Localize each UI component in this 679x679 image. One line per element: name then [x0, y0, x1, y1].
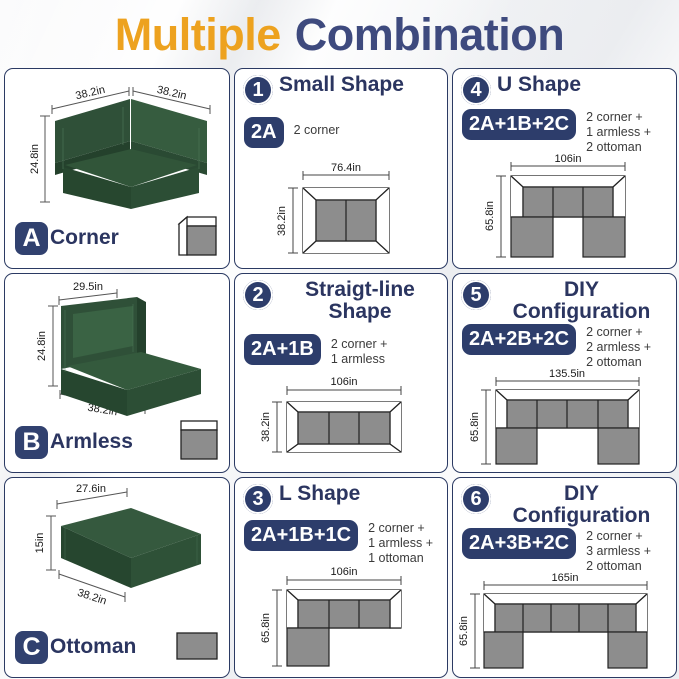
config-4-shape-name: U Shape	[497, 74, 581, 96]
config-5-combo-pill: 2A+2B+2C	[462, 324, 576, 355]
svg-text:24.8in: 24.8in	[29, 144, 41, 174]
panel-product-corner[interactable]: 38.2in 38.2in 24.8in	[4, 68, 230, 269]
config-3-diagram: 106in 65.8in	[235, 564, 447, 676]
config-6-header: 6 DIY Configuration	[461, 483, 670, 527]
config-5-depth-label: 65.8in	[469, 412, 481, 442]
config-3-combo-pill: 2A+1B+1C	[244, 520, 358, 551]
config-5-width-label: 135.5in	[549, 368, 585, 380]
config-1-diagram: 76.4in 38.2in	[235, 161, 447, 266]
config-6-diagram: 165in 65.8in	[453, 570, 676, 676]
config-6-depth-label: 65.8in	[458, 616, 470, 646]
circle-badge-3: 3	[243, 484, 273, 514]
corner-module-thumbnail	[175, 214, 219, 258]
svg-text:29.5in: 29.5in	[73, 281, 103, 293]
product-name-armless: Armless	[50, 430, 133, 454]
config-6-parts: 2 corner + 3 armless + 2 ottoman	[586, 529, 651, 573]
panel-config-3[interactable]: 3 L Shape 2A+1B+1C 2 corner + 1 armless …	[234, 477, 448, 678]
ottoman-module-thumbnail	[175, 631, 219, 661]
panel-config-1[interactable]: 1 Small Shape 2A 2 corner 76.4in 38.2in	[234, 68, 448, 269]
product-name-corner: Corner	[50, 226, 119, 250]
config-2-shape-name: Straigt-line Shape	[279, 279, 441, 323]
config-3-width-label: 106in	[331, 566, 358, 578]
config-4-diagram: 106in 65.8in	[453, 151, 676, 267]
svg-text:24.8in: 24.8in	[36, 331, 48, 361]
config-1-parts: 2 corner	[294, 123, 340, 138]
badge-c: C	[15, 631, 48, 664]
config-5-header: 5 DIY Configuration	[461, 279, 670, 323]
config-3-shape-name: L Shape	[279, 483, 360, 505]
config-1-shape-name: Small Shape	[279, 74, 404, 96]
config-4-parts: 2 corner + 1 armless + 2 ottoman	[586, 110, 651, 154]
armless-sofa-illustration: 29.5in 24.8in 38.2in	[5, 274, 229, 422]
page-root: Multiple Combination 38.2in 38.2in 24.8i…	[0, 0, 679, 679]
config-5-combo-row: 2A+2B+2C 2 corner + 2 armless + 2 ottoma…	[462, 324, 651, 369]
panel-config-4[interactable]: 4 U Shape 2A+1B+2C 2 corner + 1 armless …	[452, 68, 677, 269]
config-1-width-label: 76.4in	[331, 162, 361, 174]
badge-a: A	[15, 222, 48, 255]
config-2-parts: 2 corner + 1 armless	[331, 337, 388, 367]
circle-badge-6: 6	[461, 484, 491, 514]
config-5-shape-name: DIY Configuration	[493, 279, 670, 323]
config-2-combo-row: 2A+1B 2 corner + 1 armless	[244, 334, 387, 367]
page-title: Multiple Combination	[0, 6, 679, 64]
title-word-multiple: Multiple	[115, 9, 281, 61]
panel-grid: 38.2in 38.2in 24.8in	[4, 68, 675, 674]
panel-config-6[interactable]: 6 DIY Configuration 2A+3B+2C 2 corner + …	[452, 477, 677, 678]
circle-badge-1: 1	[243, 75, 273, 105]
config-4-width-label: 106in	[555, 153, 582, 165]
badge-b: B	[15, 426, 48, 459]
circle-badge-4: 4	[461, 75, 491, 105]
ottoman-illustration: 27.6in 15in 38.2in	[5, 478, 229, 626]
panel-config-5[interactable]: 5 DIY Configuration 2A+2B+2C 2 corner + …	[452, 273, 677, 473]
config-4-combo-pill: 2A+1B+2C	[462, 109, 576, 140]
circle-badge-5: 5	[461, 280, 491, 310]
config-4-combo-row: 2A+1B+2C 2 corner + 1 armless + 2 ottoma…	[462, 109, 651, 154]
config-6-shape-name: DIY Configuration	[493, 483, 670, 527]
config-6-combo-pill: 2A+3B+2C	[462, 528, 576, 559]
config-2-diagram: 106in 38.2in	[235, 374, 447, 469]
title-word-combination: Combination	[295, 9, 564, 61]
config-1-combo-pill: 2A	[244, 117, 284, 148]
config-3-parts: 2 corner + 1 armless + 1 ottoman	[368, 521, 433, 565]
config-2-depth-label: 38.2in	[260, 412, 272, 442]
config-4-depth-label: 65.8in	[484, 201, 496, 231]
panel-config-2[interactable]: 2 Straigt-line Shape 2A+1B 2 corner + 1 …	[234, 273, 448, 473]
config-6-width-label: 165in	[552, 572, 579, 584]
corner-sofa-illustration: 38.2in 38.2in 24.8in	[5, 69, 229, 217]
svg-text:27.6in: 27.6in	[76, 483, 106, 495]
panel-product-ottoman[interactable]: 27.6in 15in 38.2in C Ottoman	[4, 477, 230, 678]
config-1-depth-label: 38.2in	[276, 206, 288, 236]
product-name-ottoman: Ottoman	[50, 635, 136, 659]
config-5-diagram: 135.5in 65.8in	[453, 366, 676, 472]
config-5-parts: 2 corner + 2 armless + 2 ottoman	[586, 325, 651, 369]
config-6-combo-row: 2A+3B+2C 2 corner + 3 armless + 2 ottoma…	[462, 528, 651, 573]
config-2-header: 2 Straigt-line Shape	[243, 279, 441, 323]
config-1-combo-row: 2A 2 corner	[244, 117, 339, 148]
config-1-header: 1 Small Shape	[243, 74, 441, 105]
config-4-header: 4 U Shape	[461, 74, 670, 105]
config-3-combo-row: 2A+1B+1C 2 corner + 1 armless + 1 ottoma…	[244, 520, 433, 565]
config-2-combo-pill: 2A+1B	[244, 334, 321, 365]
svg-text:15in: 15in	[34, 533, 46, 554]
armless-module-thumbnail	[179, 418, 219, 462]
circle-badge-2: 2	[243, 280, 273, 310]
config-3-depth-label: 65.8in	[260, 613, 272, 643]
config-3-header: 3 L Shape	[243, 483, 441, 514]
panel-product-armless[interactable]: 29.5in 24.8in 38.2in	[4, 273, 230, 473]
config-2-width-label: 106in	[331, 376, 358, 388]
